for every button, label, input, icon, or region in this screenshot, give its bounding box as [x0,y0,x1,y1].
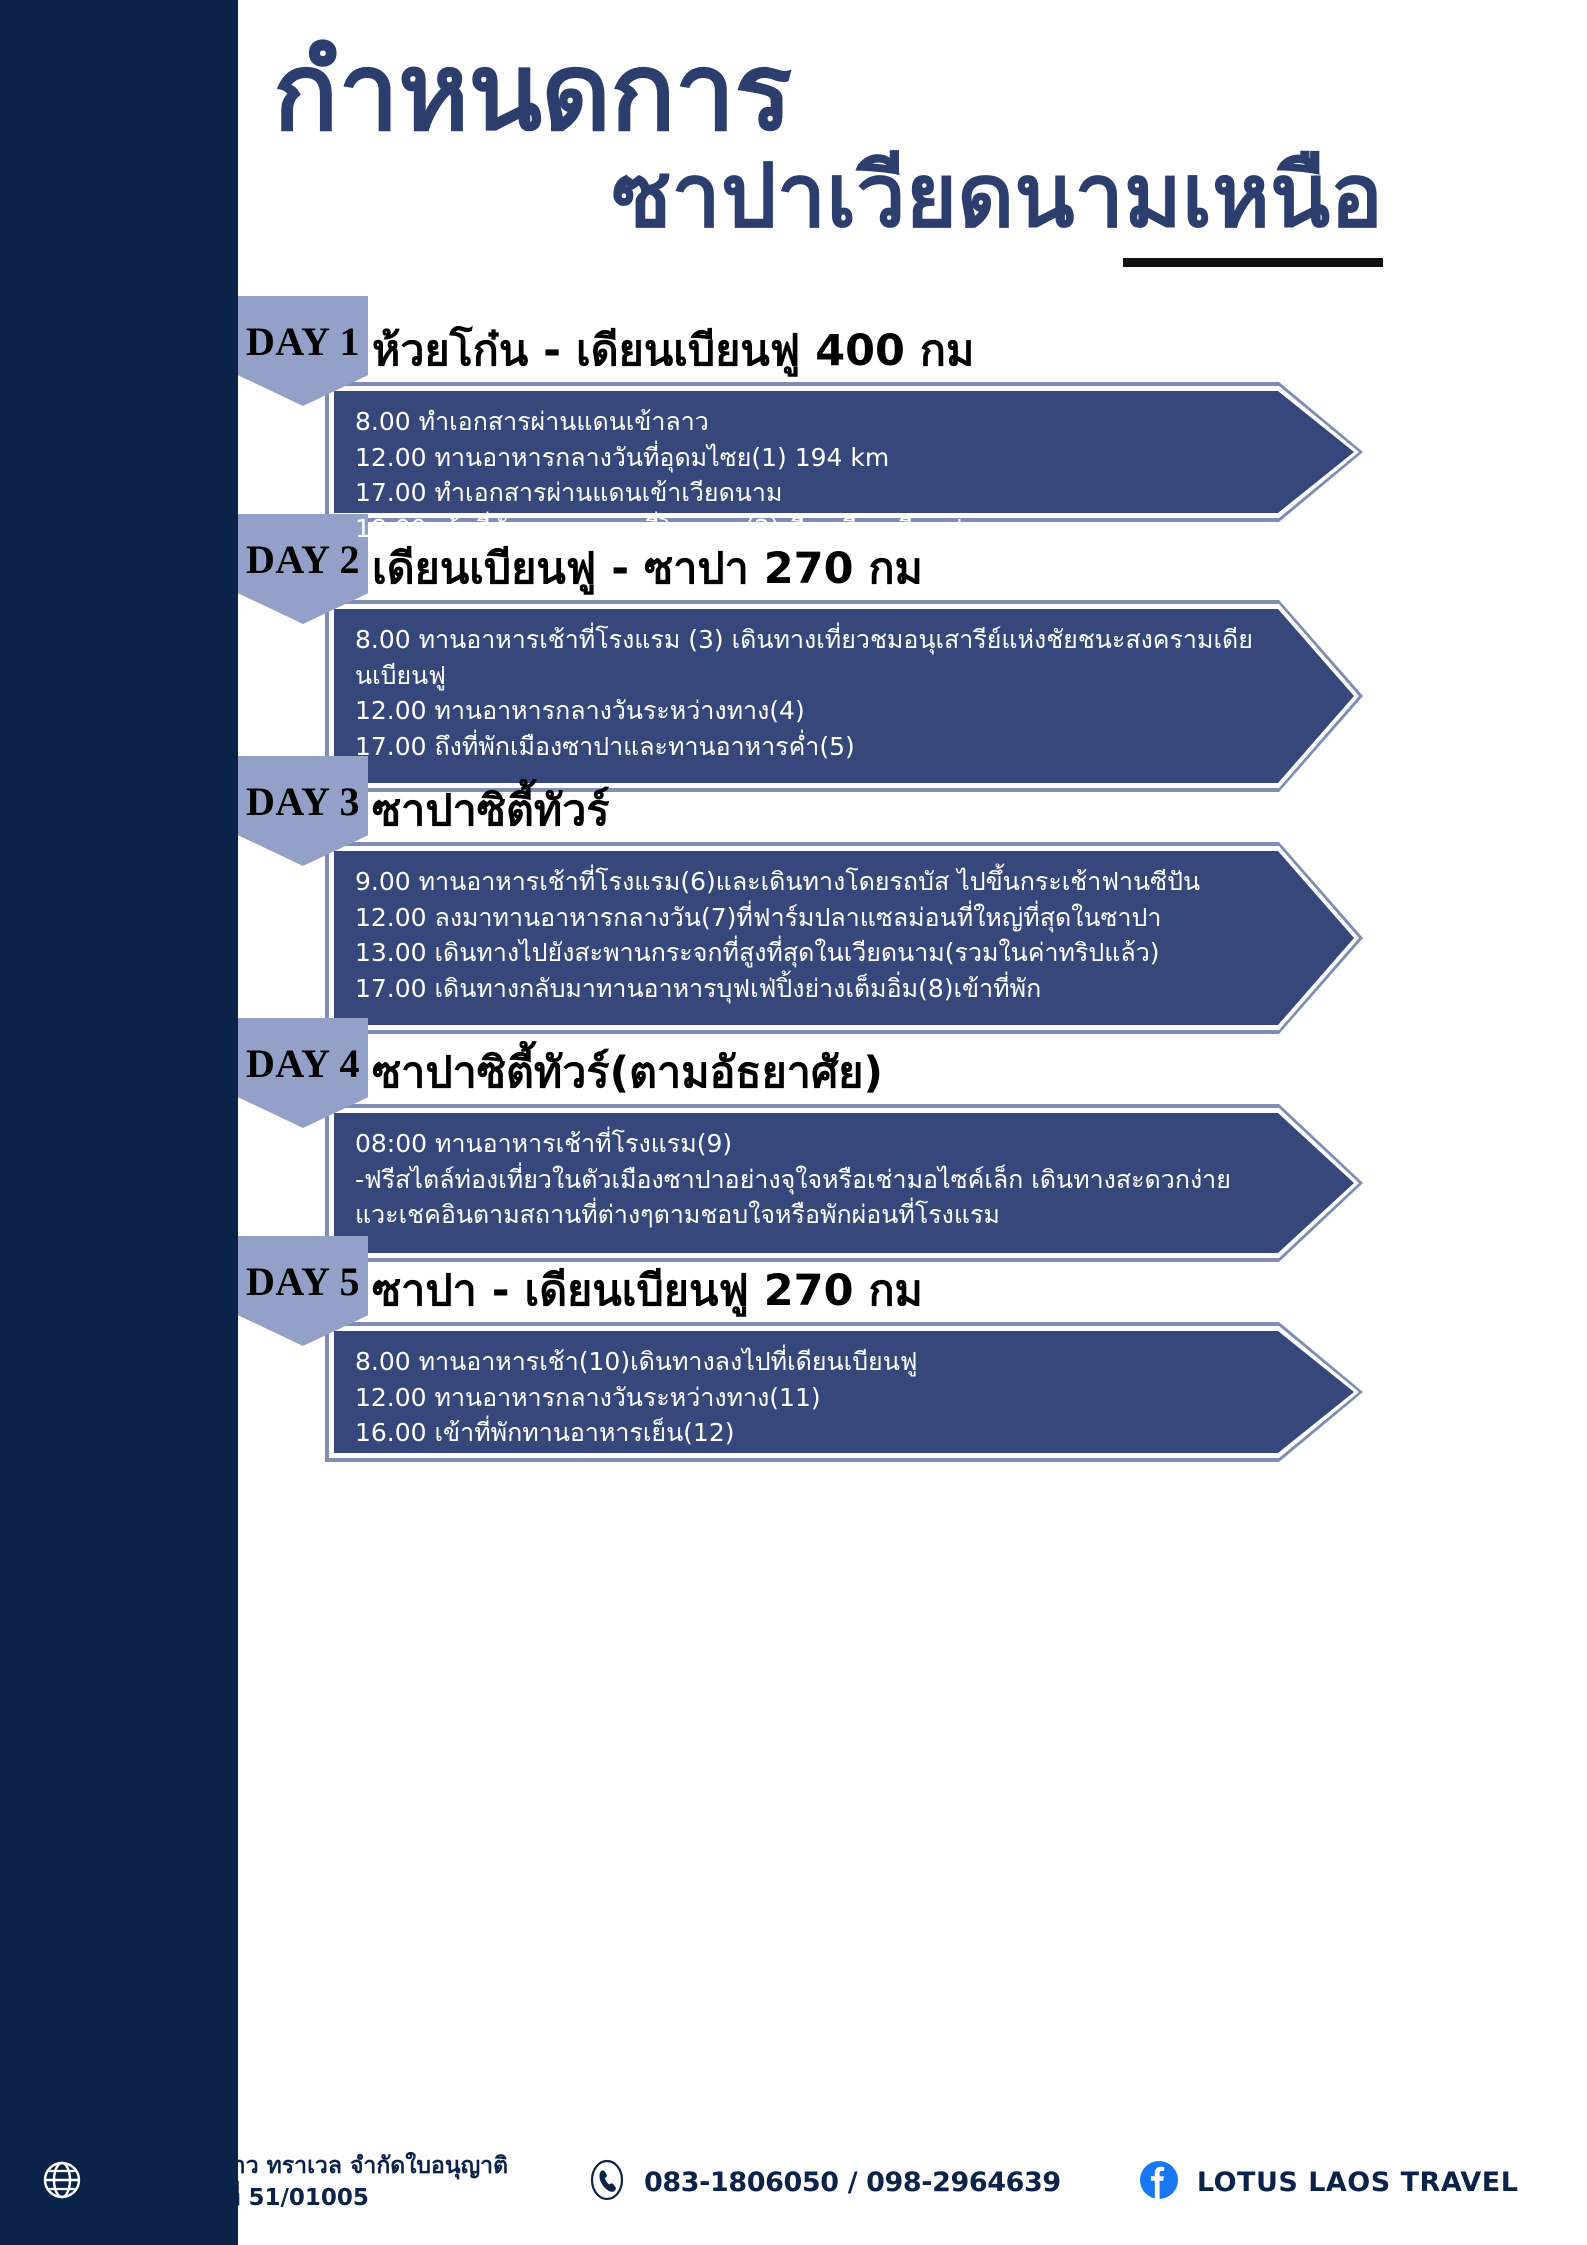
day-line: 8.00 ทำเอกสารผ่านแดนเข้าลาว [355,404,1253,440]
day-badge-label-4: DAY 4 [238,1040,368,1087]
day-title-4: ซาปาซิตี้ทัวร์(ตามอัธยาศัย) [372,1038,883,1106]
day-body-1: 8.00 ทำเอกสารผ่านแดนเข้าลาว 12.00 ทานอาห… [325,382,1363,522]
day-badge-label-1: DAY 1 [238,318,368,365]
footer-company: บริษัท โลตัสลาว ทราเวล จำกัดใบอนุญาติ ท่… [0,2151,508,2214]
company-name-line1: บริษัท โลตัสลาว ทราเวล จำกัดใบอนุญาติ [98,2151,508,2183]
day-header-4: DAY 4 ซาปาซิตี้ทัวร์(ตามอัธยาศัย) [238,1018,1587,1106]
day-title-1: ห้วยโก๋น - เดียนเบียนฟู 400 กม [372,316,974,384]
day-block-5: DAY 5 ซาปา - เดียนเบียนฟู 270 กม 8.00 ทา… [238,1236,1587,1462]
day-line: 16.00 เข้าที่พักทานอาหารเย็น(12) [355,1415,1253,1451]
day-lines-2: 8.00 ทานอาหารเช้าที่โรงแรม (3) เดินทางเท… [355,622,1253,764]
day-title-5: ซาปา - เดียนเบียนฟู 270 กม [372,1256,923,1324]
day-lines-1: 8.00 ทำเอกสารผ่านแดนเข้าลาว 12.00 ทานอาห… [355,404,1253,546]
day-line: 17.00 ถึงที่พักเมืองซาปาและทานอาหารค่ำ(5… [355,729,1253,765]
day-badge-label-5: DAY 5 [238,1258,368,1305]
day-body-5: 8.00 ทานอาหารเช้า(10)เดินทางลงไปที่เดียน… [325,1322,1363,1462]
day-line: 8.00 ทานอาหารเช้า(10)เดินทางลงไปที่เดียน… [355,1344,1253,1380]
day-line: 18.00 เข้าที่พักทานอาหารที่โรงแรม(2)เมือ… [355,511,1253,547]
phone-number: 083-1806050 / 098-2964639 [644,2167,1061,2198]
facebook-page-name: LOTUS LAOS TRAVEL [1197,2167,1519,2198]
phone-icon [586,2159,628,2206]
day-body-3: 9.00 ทานอาหารเช้าที่โรงแรม(6)และเดินทางโ… [325,842,1363,1034]
day-lines-3: 9.00 ทานอาหารเช้าที่โรงแรม(6)และเดินทางโ… [355,864,1243,1006]
day-line: 17.00 ทำเอกสารผ่านแดนเข้าเวียดนาม [355,475,1253,511]
day-block-2: DAY 2 เดียนเบียนฟู - ซาปา 270 กม 8.00 ทา… [238,514,1587,792]
company-name-line2: ท่องเที่ยวเลขที่ 51/01005 [98,2183,508,2215]
day-header-3: DAY 3 ซาปาซิตี้ทัวร์ [238,756,1587,844]
day-line: 13.00 เดินทางไปยังสะพานกระจกที่สูงที่สุด… [355,935,1243,971]
poster-title-block: กำหนดการ ซาปาเวียดนามเหนือ [238,30,1478,249]
day-block-1: DAY 1 ห้วยโก๋น - เดียนเบียนฟู 400 กม 8.0… [238,296,1587,522]
left-accent-bar [0,0,238,2245]
day-lines-5: 8.00 ทานอาหารเช้า(10)เดินทางลงไปที่เดียน… [355,1344,1253,1451]
day-line: 12.00 ลงมาทานอาหารกลางวัน(7)ที่ฟาร์มปลาแ… [355,900,1243,936]
day-line: 17.00 เดินทางกลับมาทานอาหารบุฟเฟ่ปิ้งย่า… [355,971,1243,1007]
day-line: -ฟรีสไตล์ท่องเที่ยวในตัวเมืองซาปาอย่างจุ… [355,1162,1238,1233]
day-line: 8.00 ทานอาหารเช้าที่โรงแรม (3) เดินทางเท… [355,622,1253,693]
page-title: กำหนดการ [238,30,1478,155]
facebook-icon [1139,2160,1179,2205]
day-title-3: ซาปาซิตี้ทัวร์ [372,776,609,844]
day-line: 12.00 ทานอาหารกลางวันระหว่างทาง(11) [355,1380,1253,1416]
footer-phone[interactable]: 083-1806050 / 098-2964639 [586,2159,1061,2206]
footer: บริษัท โลตัสลาว ทราเวล จำกัดใบอนุญาติ ท่… [0,2120,1587,2245]
day-line: 12.00 ทานอาหารกลางวันระหว่างทาง(4) [355,693,1253,729]
title-underline [1123,258,1383,267]
globe-icon [42,2160,82,2205]
day-lines-4: 08:00 ทานอาหารเช้าที่โรงแรม(9) -ฟรีสไตล์… [355,1126,1238,1233]
footer-facebook[interactable]: LOTUS LAOS TRAVEL [1139,2160,1519,2205]
day-badge-label-3: DAY 3 [238,778,368,825]
day-body-2: 8.00 ทานอาหารเช้าที่โรงแรม (3) เดินทางเท… [325,600,1363,792]
day-line: 08:00 ทานอาหารเช้าที่โรงแรม(9) [355,1126,1238,1162]
day-block-4: DAY 4 ซาปาซิตี้ทัวร์(ตามอัธยาศัย) 08:00 … [238,1018,1587,1262]
day-line: 9.00 ทานอาหารเช้าที่โรงแรม(6)และเดินทางโ… [355,864,1243,900]
day-line: 12.00 ทานอาหารกลางวันที่อุดมไซย(1) 194 k… [355,440,1253,476]
day-header-1: DAY 1 ห้วยโก๋น - เดียนเบียนฟู 400 กม [238,296,1587,384]
day-badge-label-2: DAY 2 [238,536,368,583]
day-block-3: DAY 3 ซาปาซิตี้ทัวร์ 9.00 ทานอาหารเช้าที… [238,756,1587,1034]
day-header-5: DAY 5 ซาปา - เดียนเบียนฟู 270 กม [238,1236,1587,1324]
page-subtitle: ซาปาเวียดนามเหนือ [612,143,1383,249]
